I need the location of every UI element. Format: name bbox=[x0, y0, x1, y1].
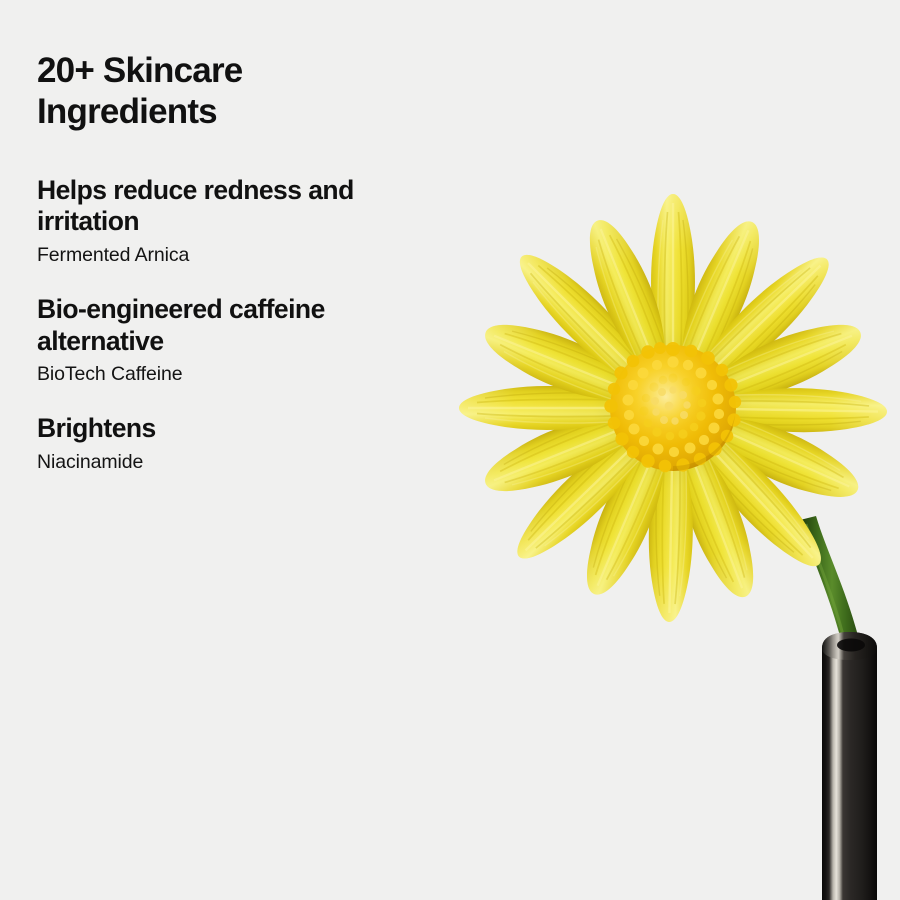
ingredient-copy-block: 20+ Skincare Ingredients Helps reduce re… bbox=[37, 50, 427, 475]
page-title: 20+ Skincare Ingredients bbox=[37, 50, 337, 133]
benefit-title: Helps reduce redness and irritation bbox=[37, 175, 377, 238]
benefit-ingredient: Niacinamide bbox=[37, 450, 427, 475]
flower-stem bbox=[800, 516, 864, 660]
flower-petals bbox=[459, 194, 887, 622]
promo-canvas: 20+ Skincare Ingredients Helps reduce re… bbox=[0, 0, 900, 900]
flower-disc bbox=[604, 342, 741, 472]
benefit-item: Bio-engineered caffeine alternative BioT… bbox=[37, 294, 427, 387]
benefit-ingredient: Fermented Arnica bbox=[37, 243, 427, 268]
benefit-ingredient: BioTech Caffeine bbox=[37, 362, 427, 387]
benefit-item: Brightens Niacinamide bbox=[37, 413, 427, 475]
benefit-title: Bio-engineered caffeine alternative bbox=[37, 294, 377, 357]
product-cylinder-container bbox=[822, 632, 877, 900]
benefit-title: Brightens bbox=[37, 413, 377, 445]
benefit-item: Helps reduce redness and irritation Ferm… bbox=[37, 175, 427, 268]
